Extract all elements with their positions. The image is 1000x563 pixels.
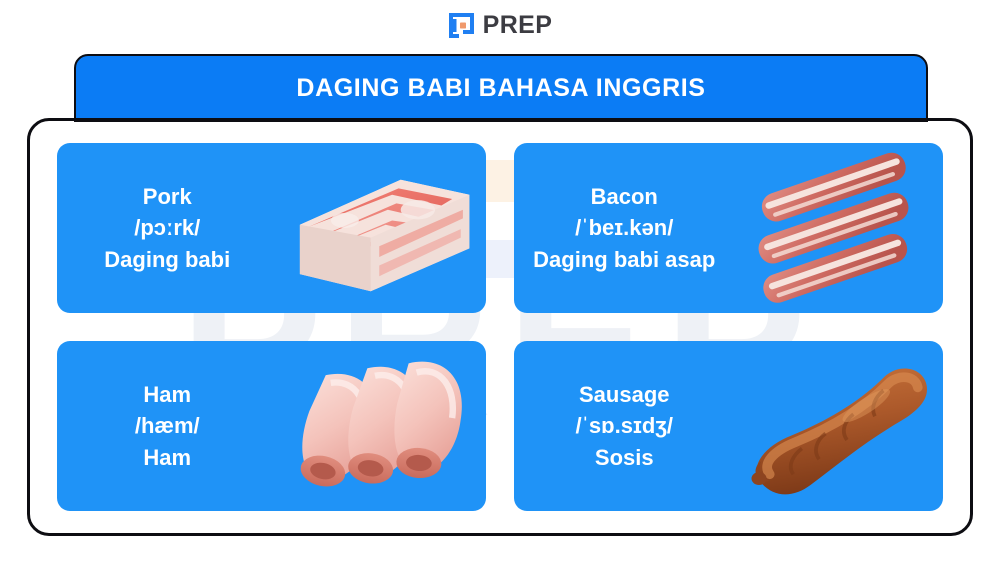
vocab-card-text: Pork /pɔːrk/ Daging babi	[57, 181, 272, 275]
vocab-meaning: Daging babi	[63, 244, 272, 275]
vocab-word: Ham	[63, 379, 272, 410]
bacon-strips-image	[729, 143, 944, 313]
vocab-word: Sausage	[520, 379, 729, 410]
vocab-meaning: Sosis	[520, 442, 729, 473]
vocab-meaning: Ham	[63, 442, 272, 473]
page-title: DAGING BABI BAHASA INGGRIS	[296, 74, 705, 103]
vocab-ipa: /ˈsɒ.sɪdʒ/	[520, 410, 729, 441]
vocab-card-bacon[interactable]: Bacon /ˈbeɪ.kən/ Daging babi asap	[514, 143, 943, 313]
vocab-ipa: /pɔːrk/	[63, 212, 272, 243]
vocab-meaning: Daging babi asap	[520, 244, 729, 275]
vocab-card-text: Ham /hæm/ Ham	[57, 379, 272, 473]
vocabulary-card-grid: Pork /pɔːrk/ Daging babi	[27, 118, 973, 536]
rolled-ham-slices-image	[272, 341, 487, 511]
brand-lockup: PREP	[0, 12, 1000, 39]
brand-name: PREP	[483, 13, 553, 38]
vocab-card-ham[interactable]: Ham /hæm/ Ham	[57, 341, 486, 511]
header-banner: DAGING BABI BAHASA INGGRIS	[74, 54, 928, 122]
vocab-card-text: Bacon /ˈbeɪ.kən/ Daging babi asap	[514, 181, 729, 275]
vocab-word: Bacon	[520, 181, 729, 212]
vocab-ipa: /hæm/	[63, 410, 272, 441]
vocab-ipa: /ˈbeɪ.kən/	[520, 212, 729, 243]
prep-logo-icon	[448, 12, 475, 39]
vocab-word: Pork	[63, 181, 272, 212]
pork-belly-slab-image	[272, 143, 487, 313]
vocab-card-text: Sausage /ˈsɒ.sɪdʒ/ Sosis	[514, 379, 729, 473]
vocab-card-sausage[interactable]: Sausage /ˈsɒ.sɪdʒ/ Sosis	[514, 341, 943, 511]
vocab-card-pork[interactable]: Pork /pɔːrk/ Daging babi	[57, 143, 486, 313]
grilled-sausage-image	[729, 341, 944, 511]
